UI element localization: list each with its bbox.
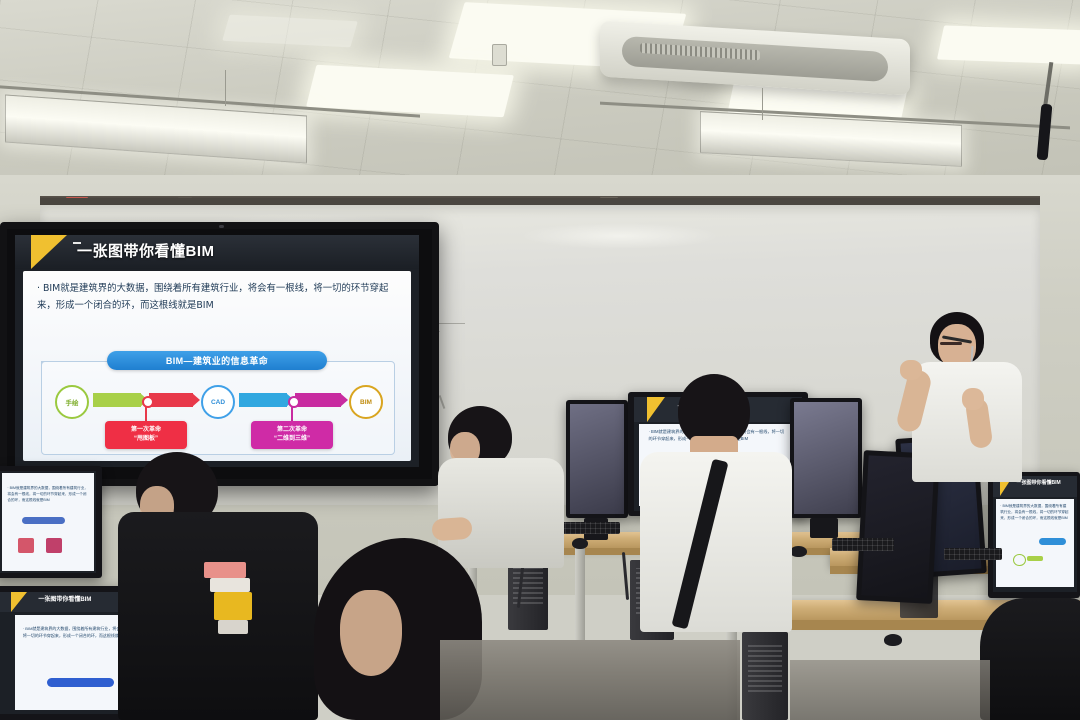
panel-light (937, 25, 1080, 64)
mouse[interactable] (572, 538, 588, 549)
mini-slide-text: · BIM就是建筑界的大数据，围绕着所有建筑行业，将会有一根线，将一切的环节穿起… (1000, 503, 1069, 521)
bim-evolution-diagram: BIM—建筑业的信息革命 手绘 CAD BIM 第一次革命 “甩图板” (41, 351, 393, 455)
diagram-arrow-2 (149, 393, 193, 407)
diagram-callout-second-revolution: 第二次革命 “二维到三维” (251, 421, 333, 449)
monitor-stand (810, 518, 838, 538)
mini-callout (18, 538, 34, 554)
mini-slide-text: · BIM就是建筑界的大数据，围绕着所有建筑行业，将会有一根线，将一切的环节穿起… (7, 485, 88, 503)
keyboard[interactable] (832, 538, 894, 551)
slide-bullet-text: · BIM就是建筑界的大数据，围绕着所有建筑行业，将会有一根线，将一切的环节穿起… (37, 281, 395, 314)
mini-slide-title: 一张图带你看懂BIM (38, 594, 91, 603)
mini-slide-body: · BIM就是建筑界的大数据，围绕着所有建筑行业，将会有一根线，将一切的环节穿起… (996, 499, 1075, 587)
mini-arrow (1027, 556, 1043, 560)
mini-slide-body: · BIM就是建筑界的大数据，围绕着所有建筑行业，将会有一根线，将一切的环节穿起… (2, 473, 94, 571)
fixture-wire (762, 88, 763, 120)
diagram-pin-1-icon (142, 396, 154, 408)
student-monitor-left-upper[interactable]: · BIM就是建筑界的大数据，围绕着所有建筑行业，将会有一根线，将一切的环节穿起… (0, 466, 102, 578)
callout-line-1: 第一次革命 (131, 426, 161, 435)
classroom-scene: 一张图带你看懂BIM · BIM就是建筑界的大数据，围绕着所有建筑行业，将会有一… (0, 0, 1080, 720)
keyboard[interactable] (944, 548, 1002, 560)
mouse[interactable] (884, 634, 902, 646)
diagram-arrow-3 (239, 393, 287, 407)
student-torso (980, 598, 1080, 720)
diagram-node-handdrawn: 手绘 (55, 385, 89, 419)
mini-slide: · BIM就是建筑界的大数据，围绕着所有建筑行业，将会有一根线，将一切的环节穿起… (0, 471, 96, 573)
diagram-banner: BIM—建筑业的信息革命 (107, 351, 327, 370)
diagram-node-bim: BIM (349, 385, 383, 419)
mini-callout (46, 538, 62, 554)
callout-line-1: 第二次革命 (277, 426, 307, 435)
callout-line-2: “二维到三维” (274, 435, 310, 444)
slide-title-bar (15, 235, 419, 269)
slide-body: · BIM就是建筑界的大数据，围绕着所有建筑行业，将会有一根线，将一切的环节穿起… (23, 271, 411, 461)
callout-line-2: “甩图板” (134, 435, 158, 444)
keyboard[interactable] (560, 522, 620, 534)
mini-accent-triangle-icon (11, 592, 27, 612)
slide-accent-triangle-icon (31, 235, 67, 269)
ceiling-sensor (492, 44, 507, 66)
student-monitor-right[interactable] (790, 398, 862, 518)
main-presentation-screen[interactable]: 一张图带你看懂BIM · BIM就是建筑界的大数据，围绕着所有建筑行业，将会有一… (0, 222, 439, 486)
face (340, 590, 402, 676)
instructor-hand (962, 388, 984, 410)
diagram-pin-2-icon (288, 396, 300, 408)
diagram-arrow-4 (295, 393, 341, 407)
diagram-node-cad: CAD (201, 385, 235, 419)
mini-node-icon (1013, 554, 1026, 567)
pc-tower (742, 632, 788, 720)
mini-diagram-banner (22, 517, 64, 524)
tshirt-graphic (218, 620, 248, 634)
slide-canvas: 一张图带你看懂BIM · BIM就是建筑界的大数据，围绕着所有建筑行业，将会有一… (15, 235, 419, 467)
mouth (940, 342, 962, 345)
student-monitor-angled[interactable] (566, 400, 628, 518)
power-led-icon (219, 225, 224, 228)
diagram-callout-first-revolution: 第一次革命 “甩图板” (105, 421, 187, 449)
floor (790, 660, 990, 720)
diagram-arrow-1 (93, 393, 141, 407)
slide-title: 一张图带你看懂BIM (77, 240, 215, 261)
mini-diagram-banner (1039, 538, 1066, 545)
tshirt-graphic (214, 592, 252, 620)
fixture-wire (225, 70, 226, 106)
student-center-standing (636, 374, 796, 634)
floor (440, 640, 740, 720)
mini-diagram-banner (47, 678, 114, 688)
desk-leg (575, 548, 585, 640)
instructor (896, 312, 1036, 502)
tshirt-graphic (204, 562, 246, 578)
instructor-fist (900, 360, 922, 380)
tshirt-graphic (210, 578, 250, 592)
student-far-right (980, 598, 1080, 720)
